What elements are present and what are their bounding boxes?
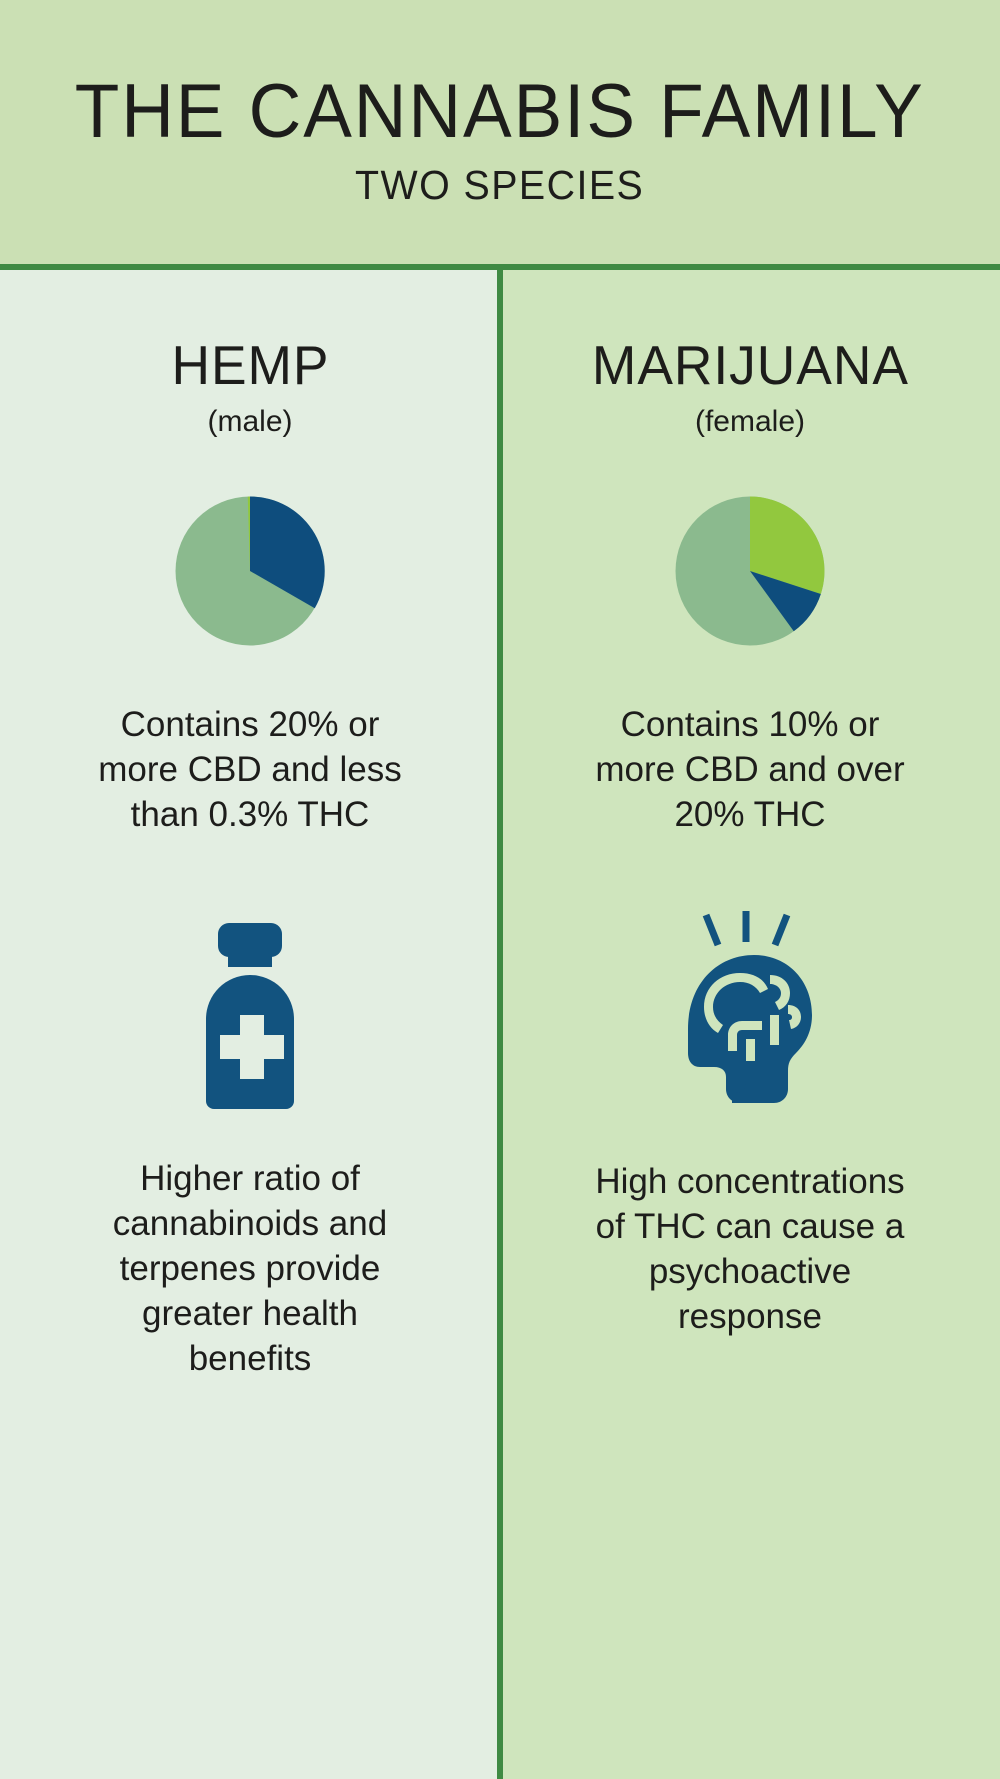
column-sex-label-hemp: (male) xyxy=(207,407,292,437)
spark-line-right xyxy=(775,915,787,945)
benefit-text-hemp: Higher ratio of cannabinoids and terpene… xyxy=(80,1157,420,1381)
column-marijuana: MARIJUANA (female) Contains 10% or more … xyxy=(500,270,1000,1779)
benefit-text-marijuana: High concentrations of THC can cause a p… xyxy=(580,1160,920,1339)
page-subtitle: TWO SPECIES xyxy=(355,162,644,209)
pie-chart-hemp-svg xyxy=(174,495,326,647)
medicine-bottle-icon-svg xyxy=(180,923,320,1113)
column-title-marijuana: MARIJUANA xyxy=(591,338,908,393)
column-sex-label-marijuana: (female) xyxy=(695,407,805,437)
stat-text-hemp: Contains 20% or more CBD and less than 0… xyxy=(85,703,415,837)
page-title: THE CANNABIS FAMILY xyxy=(75,74,925,150)
column-divider xyxy=(497,270,503,1779)
header-banner: THE CANNABIS FAMILY TWO SPECIES xyxy=(0,0,1000,264)
pie-chart-hemp xyxy=(174,495,326,647)
pie-chart-marijuana xyxy=(674,495,826,647)
head-brain-icon xyxy=(670,911,830,1116)
spark-line-left xyxy=(706,915,718,945)
stat-text-marijuana: Contains 10% or more CBD and over 20% TH… xyxy=(585,703,915,837)
pie-chart-marijuana-svg xyxy=(674,495,826,647)
column-hemp: HEMP (male) Contains 20% or more CBD and… xyxy=(0,270,500,1779)
infographic-root: THE CANNABIS FAMILY TWO SPECIES HEMP (ma… xyxy=(0,0,1000,1779)
medicine-bottle-icon xyxy=(180,923,320,1113)
column-title-hemp: HEMP xyxy=(171,338,329,393)
head-brain-icon-svg xyxy=(670,911,830,1116)
